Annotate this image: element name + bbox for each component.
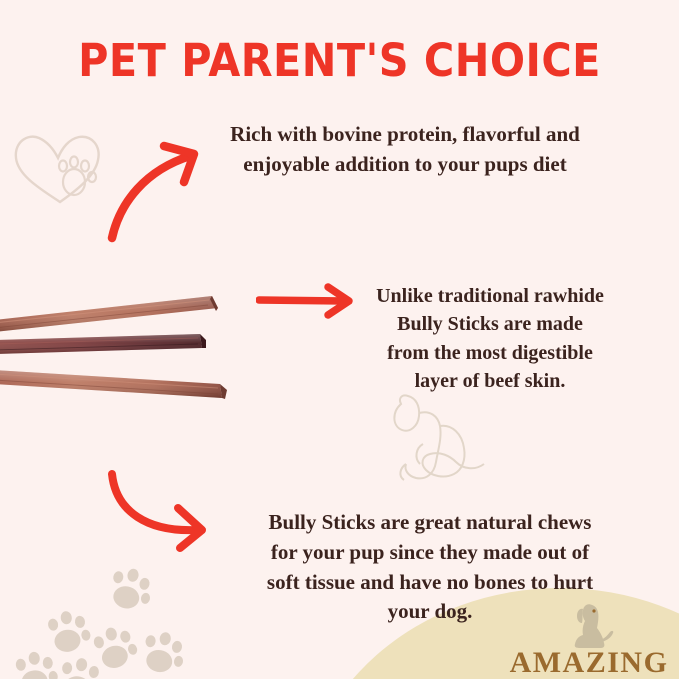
heart-paw-outline-icon xyxy=(8,122,108,218)
sitting-dog-silhouette-icon xyxy=(561,600,617,650)
arrow-curved-down-right-icon xyxy=(96,468,226,560)
body-text-block-2: Unlike traditional rawhide Bully Sticks … xyxy=(340,282,640,396)
dog-line-art-icon xyxy=(378,386,518,488)
page-title: PET PARENT'S CHOICE xyxy=(27,34,652,87)
brand-name: AMAZING xyxy=(505,648,673,678)
bully-sticks-photo xyxy=(0,270,260,410)
paw-print-cluster-icon xyxy=(10,565,225,679)
brand-logo: AMAZING DOG TREATS xyxy=(505,600,673,679)
poster-canvas: PET PARENT'S CHOICE xyxy=(0,0,679,679)
body-text-block-1: Rich with bovine protein, flavorful and … xyxy=(180,120,630,180)
